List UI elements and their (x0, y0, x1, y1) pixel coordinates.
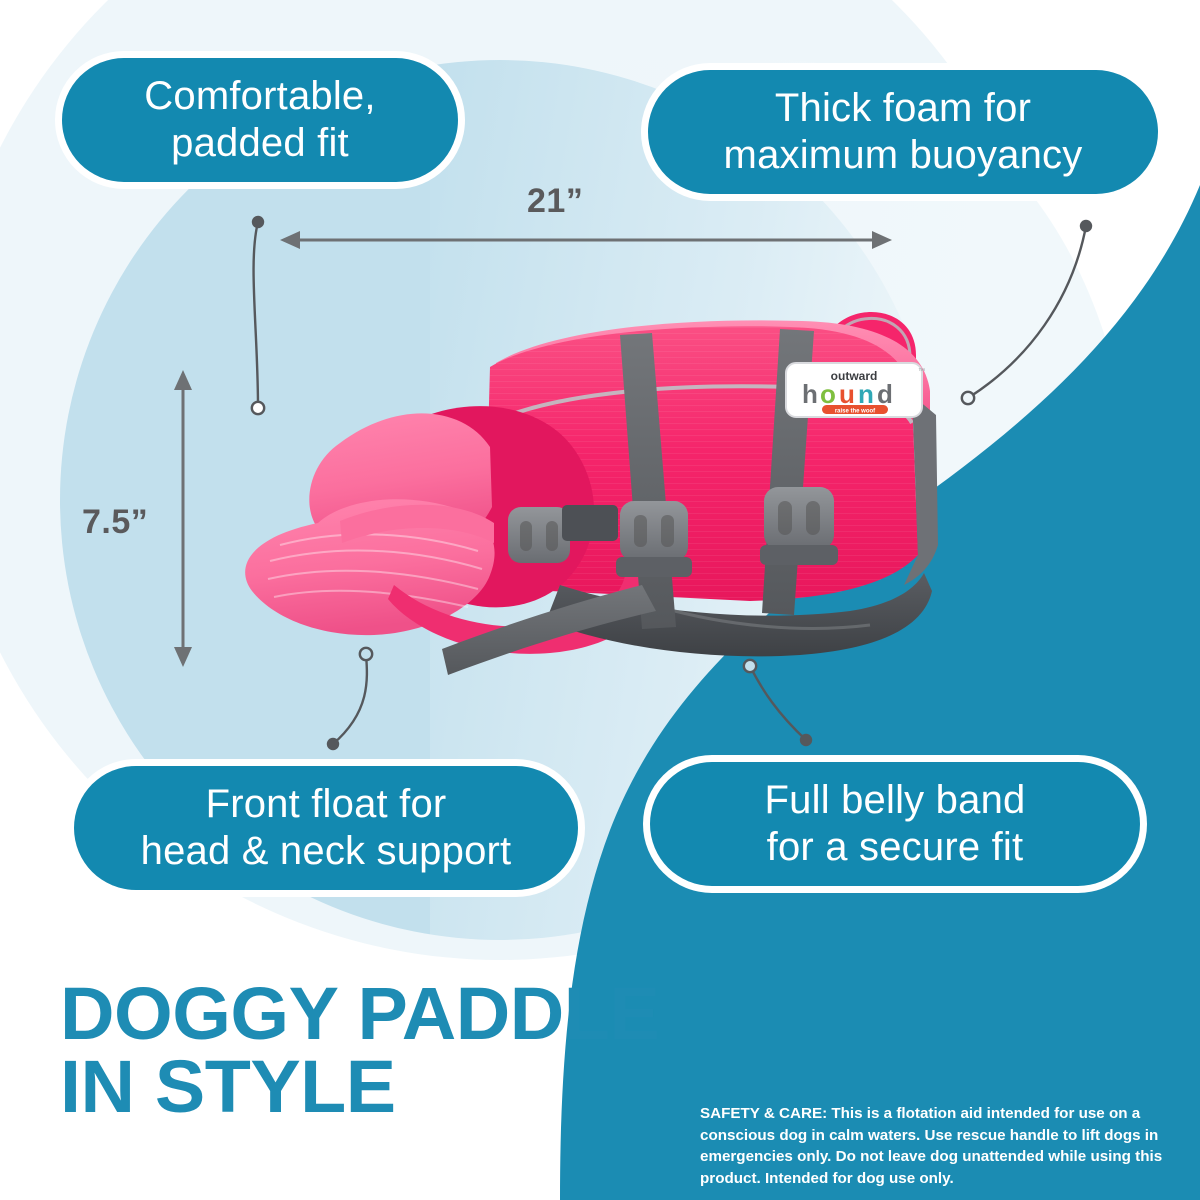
callout-line-1: Comfortable, (144, 73, 375, 120)
callout-line-1: Front float for (141, 781, 512, 828)
leader-dot-bottom-left (327, 738, 339, 750)
leader-ring-bottom-left (360, 648, 372, 660)
infographic-canvas: 21” 7.5” (0, 0, 1200, 1200)
page-headline: DOGGY PADDLE IN STYLE (60, 978, 659, 1123)
leader-line-top-right (968, 226, 1086, 398)
callout-line-1: Thick foam for (724, 85, 1083, 132)
headline-line-2: IN STYLE (60, 1051, 659, 1124)
callout-line-2: padded fit (144, 120, 375, 167)
leader-ring-top-left (252, 402, 264, 414)
callout-line-1: Full belly band (765, 777, 1026, 824)
leader-line-bottom-right (750, 666, 806, 740)
safety-and-care-text: SAFETY & CARE: This is a flotation aid i… (700, 1103, 1170, 1189)
callout-thick-foam-buoyancy[interactable]: Thick foam for maximum buoyancy (648, 70, 1158, 194)
leader-line-bottom-left (333, 654, 367, 744)
headline-line-1: DOGGY PADDLE (60, 978, 659, 1051)
callout-line-2: maximum buoyancy (724, 132, 1083, 179)
callout-full-belly-band[interactable]: Full belly band for a secure fit (650, 762, 1140, 886)
leader-ring-bottom-right (744, 660, 756, 672)
callout-line-2: for a secure fit (765, 824, 1026, 871)
leader-dot-top-right (1080, 220, 1092, 232)
callout-front-float-support[interactable]: Front float for head & neck support (74, 766, 578, 890)
leader-ring-top-right (962, 392, 974, 404)
leader-dot-top-left (252, 216, 264, 228)
safety-body: SAFETY & CARE: This is a flotation aid i… (700, 1103, 1170, 1189)
callout-line-2: head & neck support (141, 828, 512, 875)
leader-line-top-left (254, 222, 258, 408)
leader-dot-bottom-right (800, 734, 812, 746)
callout-comfortable-padded-fit[interactable]: Comfortable, padded fit (62, 58, 458, 182)
